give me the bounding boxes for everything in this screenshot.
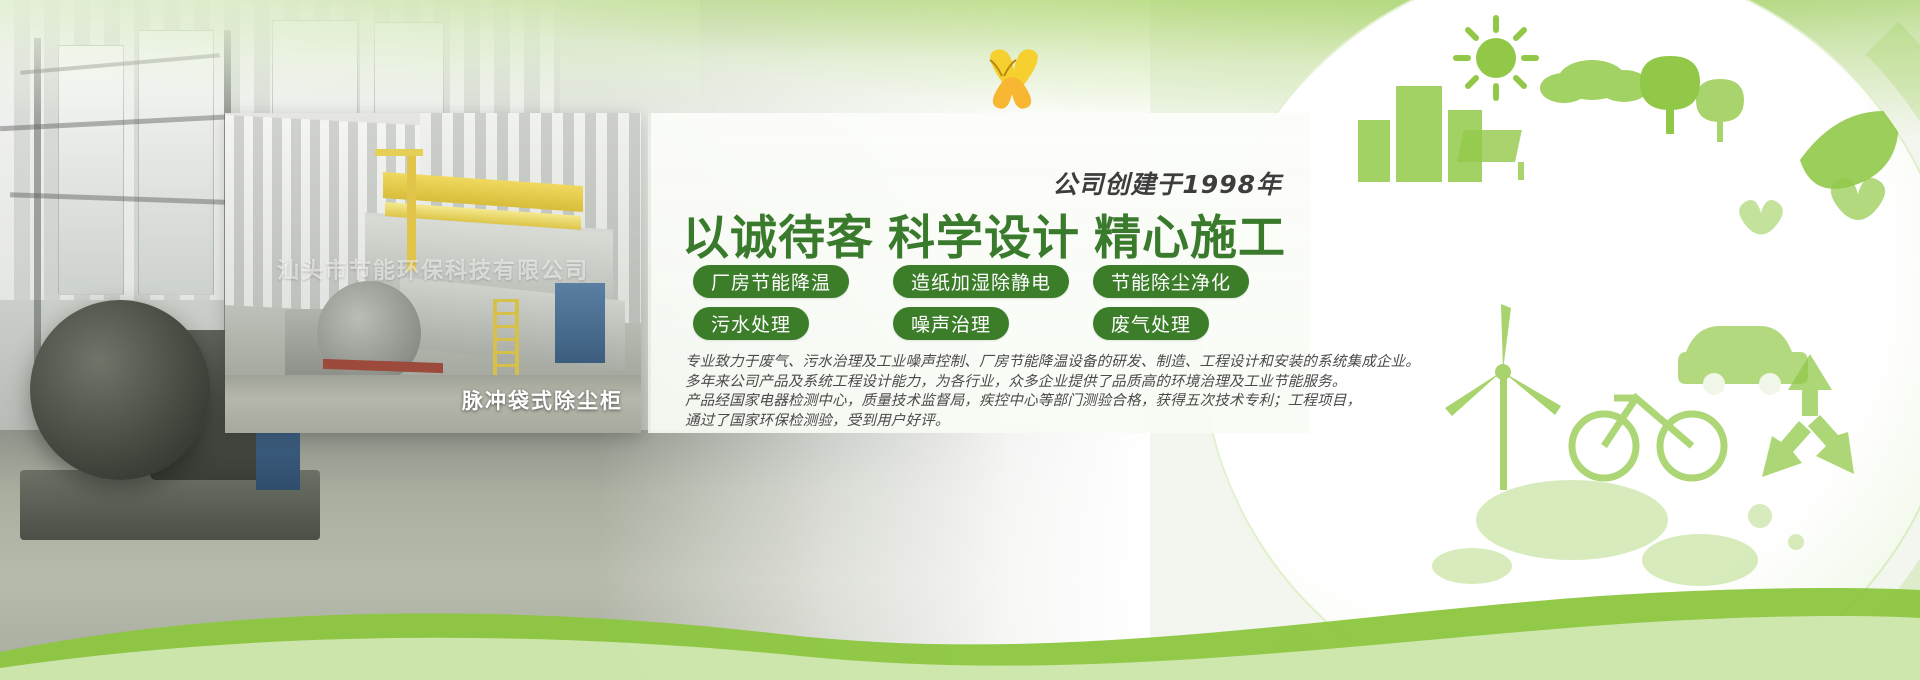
description-line: 多年来公司产品及系统工程设计能力，为各行业，众多企业提供了品质高的环境治理及工业… [685,373,1305,393]
project-photo-card: 汕头市节能环保科技有限公司 脉冲袋式除尘柜 [225,113,641,433]
card-horizontal-rail [375,149,423,156]
butterfly-icon [1831,178,1885,220]
service-tag-dust-purification[interactable]: 节能除尘净化 [1093,265,1249,298]
established-text: 公司创建于1998年 [1052,165,1282,201]
service-tag-row-1: 厂房节能降温 造纸加湿除静电 节能除尘净化 [693,265,1293,298]
description-line: 产品经国家电器检测中心，质量技术监督局，疾控中心等部门测验合格，获得五次技术专利… [685,392,1305,412]
wind-turbine-icon [1445,304,1561,490]
sun-icon [1476,38,1516,78]
service-tag-paper-humidify[interactable]: 造纸加湿除静电 [893,265,1069,298]
world-map-decoration [1432,480,1804,586]
headline-part-3: 精心施工 [1094,211,1286,266]
headline-part-2: 科学设计 [888,211,1080,266]
hero-banner: 汕头市节能环保科技有限公司 脉冲袋式除尘柜 公司创建于1998年 以诚待客科学设… [0,0,1920,680]
service-tag-noise-control[interactable]: 噪声治理 [893,307,1009,340]
bicycle-icon [1572,398,1724,478]
service-tag-exhaust-treatment[interactable]: 废气处理 [1093,307,1209,340]
headline-part-1: 以诚待客 [682,211,874,266]
card-blue-panel [555,283,605,363]
service-tag-sewage-treatment[interactable]: 污水处理 [693,307,809,340]
company-description: 专业致力于废气、污水治理及工业噪声控制、厂房节能降温设备的研发、制造、工程设计和… [685,353,1305,431]
service-tag-list: 厂房节能降温 造纸加湿除静电 节能除尘净化 污水处理 噪声治理 废气处理 [693,265,1293,349]
page-title: 以诚待客科学设计精心施工 [682,199,1286,268]
leaf-icon [1800,111,1899,189]
cloud-icon [1540,60,1650,103]
car-icon [1678,326,1808,395]
butterfly-icon [1739,200,1783,234]
butterfly-icon [968,46,1038,116]
service-tag-workshop-cooling[interactable]: 厂房节能降温 [693,265,849,298]
photo-caption: 脉冲袋式除尘柜 [462,385,623,415]
photo-watermark: 汕头市节能环保科技有限公司 [225,253,641,285]
service-tag-row-2: 污水处理 噪声治理 废气处理 [693,307,1293,340]
description-line: 专业致力于废气、污水治理及工业噪声控制、厂房节能降温设备的研发、制造、工程设计和… [685,353,1305,373]
content-panel: 公司创建于1998年 以诚待客科学设计精心施工 厂房节能降温 造纸加湿除静电 节… [648,113,1310,433]
tree-icon [1640,56,1700,134]
tree-icon [1696,79,1744,142]
description-line: 通过了国家环保检测验，受到用户好评。 [685,412,1305,432]
